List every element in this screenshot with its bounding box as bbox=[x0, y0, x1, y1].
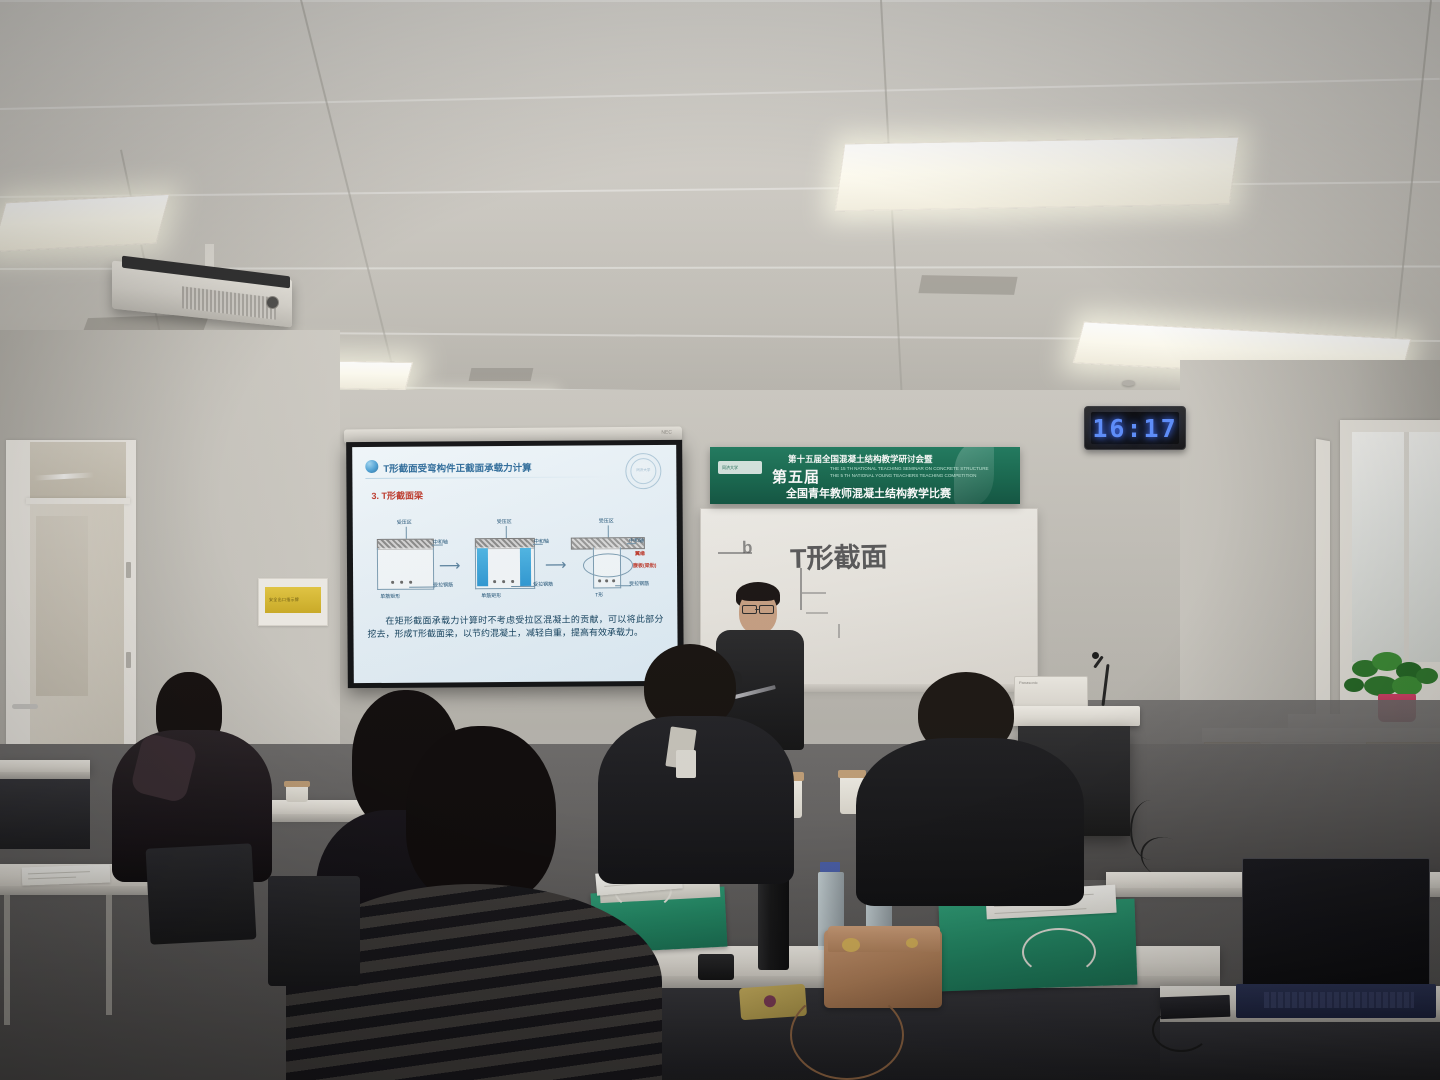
slide-title-rule bbox=[365, 476, 611, 479]
rebar-dot bbox=[605, 579, 608, 582]
leader-line bbox=[406, 527, 407, 539]
rebar-dot bbox=[612, 579, 615, 582]
leader-line bbox=[511, 586, 535, 587]
stage3-web-label: 腹板(梁肋) bbox=[633, 562, 656, 569]
conference-bag-handle[interactable] bbox=[1022, 928, 1096, 976]
audience-lanyard bbox=[676, 750, 696, 778]
cable-coil bbox=[1152, 1008, 1210, 1052]
rebar-dot bbox=[511, 580, 514, 583]
stage1-caption: 单筋矩形 bbox=[380, 593, 400, 600]
stage3-flange-label: 翼缘 bbox=[635, 550, 645, 557]
leader-line bbox=[409, 587, 435, 588]
banner-big-text: 第五届 bbox=[772, 466, 820, 487]
slide-subtitle: 3. T形截面梁 bbox=[371, 489, 423, 502]
ceiling-light-panel bbox=[835, 137, 1240, 212]
window-mullion bbox=[1404, 432, 1409, 662]
stage1-axis-label: 中和轴 bbox=[433, 538, 448, 545]
banner-english2: THE 5 TH NATIONAL YOUNG TEACHERS TEACHIN… bbox=[830, 473, 976, 478]
audience-member bbox=[596, 644, 796, 884]
banner-english1: THE 15 TH NATIONAL TEACHING SEMINAR ON C… bbox=[830, 466, 989, 471]
whiteboard-handwriting-secondary: b bbox=[742, 538, 753, 558]
slide-paragraph: 在矩形截面承载力计算时不考虑受拉区混凝土的贡献，可以将此部分挖去，形成T形截面梁… bbox=[367, 613, 663, 641]
leader-line bbox=[506, 526, 507, 538]
diagram-stage-3: 受压区 中和轴 翼缘 腹板(梁肋) 受拉钢筋 T形 bbox=[571, 517, 668, 594]
rebar-dot bbox=[502, 580, 505, 583]
paper-text-line bbox=[994, 908, 1086, 914]
handbag-strap bbox=[790, 990, 904, 1080]
plaque-inner: 安全出口指示牌 bbox=[265, 587, 321, 613]
ceiling-light-panel bbox=[0, 194, 170, 252]
chair-back bbox=[146, 843, 257, 944]
stage3-rebar-label: 受拉钢筋 bbox=[629, 580, 649, 587]
table-far-left bbox=[0, 760, 90, 772]
paper-on-table bbox=[22, 864, 111, 885]
audience-torso bbox=[856, 738, 1084, 906]
door-panel bbox=[36, 516, 88, 696]
stage1-top-label: 受压区 bbox=[397, 519, 412, 526]
table-leg bbox=[4, 895, 10, 1025]
stage3-axis-label: 中和轴 bbox=[629, 537, 644, 544]
projector-lens-icon bbox=[266, 296, 279, 309]
banner-logo: 同济大学 bbox=[718, 461, 762, 474]
laptop-keys bbox=[1264, 992, 1414, 1008]
transition-arrow-1: ⟶ bbox=[439, 558, 461, 573]
door-hinge bbox=[126, 652, 131, 668]
ceiling-vent bbox=[918, 275, 1017, 295]
laptop-screen bbox=[1242, 858, 1430, 988]
plaque-text: 安全出口指示牌 bbox=[269, 597, 299, 603]
rebar-dot bbox=[598, 579, 601, 582]
slide-title: T形截面受弯构件正截面承载力计算 bbox=[383, 460, 531, 475]
ceiling-seam bbox=[0, 0, 1440, 2]
university-seal-icon: 同济大学 bbox=[625, 453, 661, 489]
clock-display: 16:17 bbox=[1091, 412, 1179, 444]
smoke-detector-icon bbox=[1122, 380, 1135, 386]
seal-text: 同济大学 bbox=[626, 468, 660, 473]
lens-container bbox=[698, 954, 734, 980]
presenter-hair-top bbox=[738, 584, 778, 601]
slide-bullet-icon bbox=[365, 460, 378, 473]
wall-plaque: 安全出口指示牌 bbox=[258, 578, 328, 626]
phone-camera-icon bbox=[764, 995, 777, 1008]
door-hinge bbox=[126, 562, 131, 578]
stage2-axis-label: 中和轴 bbox=[534, 538, 549, 545]
stage3-top-label: 受压区 bbox=[599, 517, 614, 524]
web-highlight-ellipse bbox=[583, 553, 633, 577]
paper-text-line bbox=[28, 871, 90, 874]
whiteboard-handwriting: T形截面 bbox=[790, 535, 888, 576]
door-handle[interactable] bbox=[12, 704, 38, 709]
plant-leaf bbox=[1344, 678, 1364, 692]
plant-leaf bbox=[1416, 668, 1438, 684]
window-frame-left bbox=[1316, 439, 1330, 721]
rect-beam-section bbox=[377, 548, 434, 590]
digital-clock: 16:17 bbox=[1084, 406, 1186, 450]
banner-line3: 全国青年教师混凝土结构教学比赛 bbox=[786, 485, 951, 501]
stage1-rebar-label: 受拉钢筋 bbox=[433, 581, 453, 588]
audience-torso-suit bbox=[598, 716, 794, 884]
table-edge bbox=[0, 772, 90, 779]
clock-time: 16:17 bbox=[1092, 414, 1177, 443]
table-side-panel bbox=[0, 779, 90, 849]
whiteboard-sketch-line bbox=[718, 552, 752, 554]
ceiling-vent bbox=[469, 368, 534, 381]
handbag-clasp-icon bbox=[842, 938, 860, 952]
rebar-dot bbox=[409, 581, 412, 584]
tension-zone-fill bbox=[477, 548, 488, 586]
banner-line1: 第十五届全国混凝土结构教学研讨会暨 bbox=[788, 453, 933, 465]
rebar-dot bbox=[400, 581, 403, 584]
lecture-hall-photo: 安全出口指示牌 NEC T形截面受弯构件正截面承载力计算 同济大学 3. T形截… bbox=[0, 0, 1440, 1080]
leader-line bbox=[608, 525, 609, 537]
chair-back bbox=[268, 876, 360, 986]
stage2-top-label: 受压区 bbox=[497, 518, 512, 525]
transition-arrow-2: ⟶ bbox=[545, 558, 567, 573]
stage3-caption: T形 bbox=[595, 591, 603, 598]
whiteboard-sketch-line bbox=[838, 624, 840, 638]
tension-zone-fill bbox=[520, 548, 531, 586]
audience-member bbox=[856, 672, 1086, 906]
presenter-glasses-bridge bbox=[755, 608, 759, 610]
presenter-glasses-icon bbox=[759, 605, 774, 614]
paper-text-line bbox=[28, 877, 76, 880]
microphone-head-icon bbox=[1092, 652, 1099, 659]
stage2-caption: 单筋矩形 bbox=[481, 592, 501, 599]
laptop-right[interactable] bbox=[1236, 858, 1436, 1018]
window-glass bbox=[1352, 432, 1440, 662]
rebar-dot bbox=[493, 580, 496, 583]
door-transom-window bbox=[30, 442, 126, 498]
audience-hair bbox=[406, 726, 556, 904]
handbag-clasp-icon bbox=[906, 938, 918, 948]
laptop-keyboard[interactable] bbox=[1236, 984, 1436, 1018]
rebar-dot bbox=[391, 581, 394, 584]
event-banner: 同济大学 第十五届全国混凝土结构教学研讨会暨 第五届 THE 15 TH NAT… bbox=[710, 447, 1020, 504]
screen-brand-label: NEC bbox=[661, 430, 672, 436]
stage2-rebar-label: 受拉钢筋 bbox=[533, 581, 553, 588]
banner-logo-text: 同济大学 bbox=[722, 465, 738, 471]
bottle-cap bbox=[820, 862, 840, 872]
